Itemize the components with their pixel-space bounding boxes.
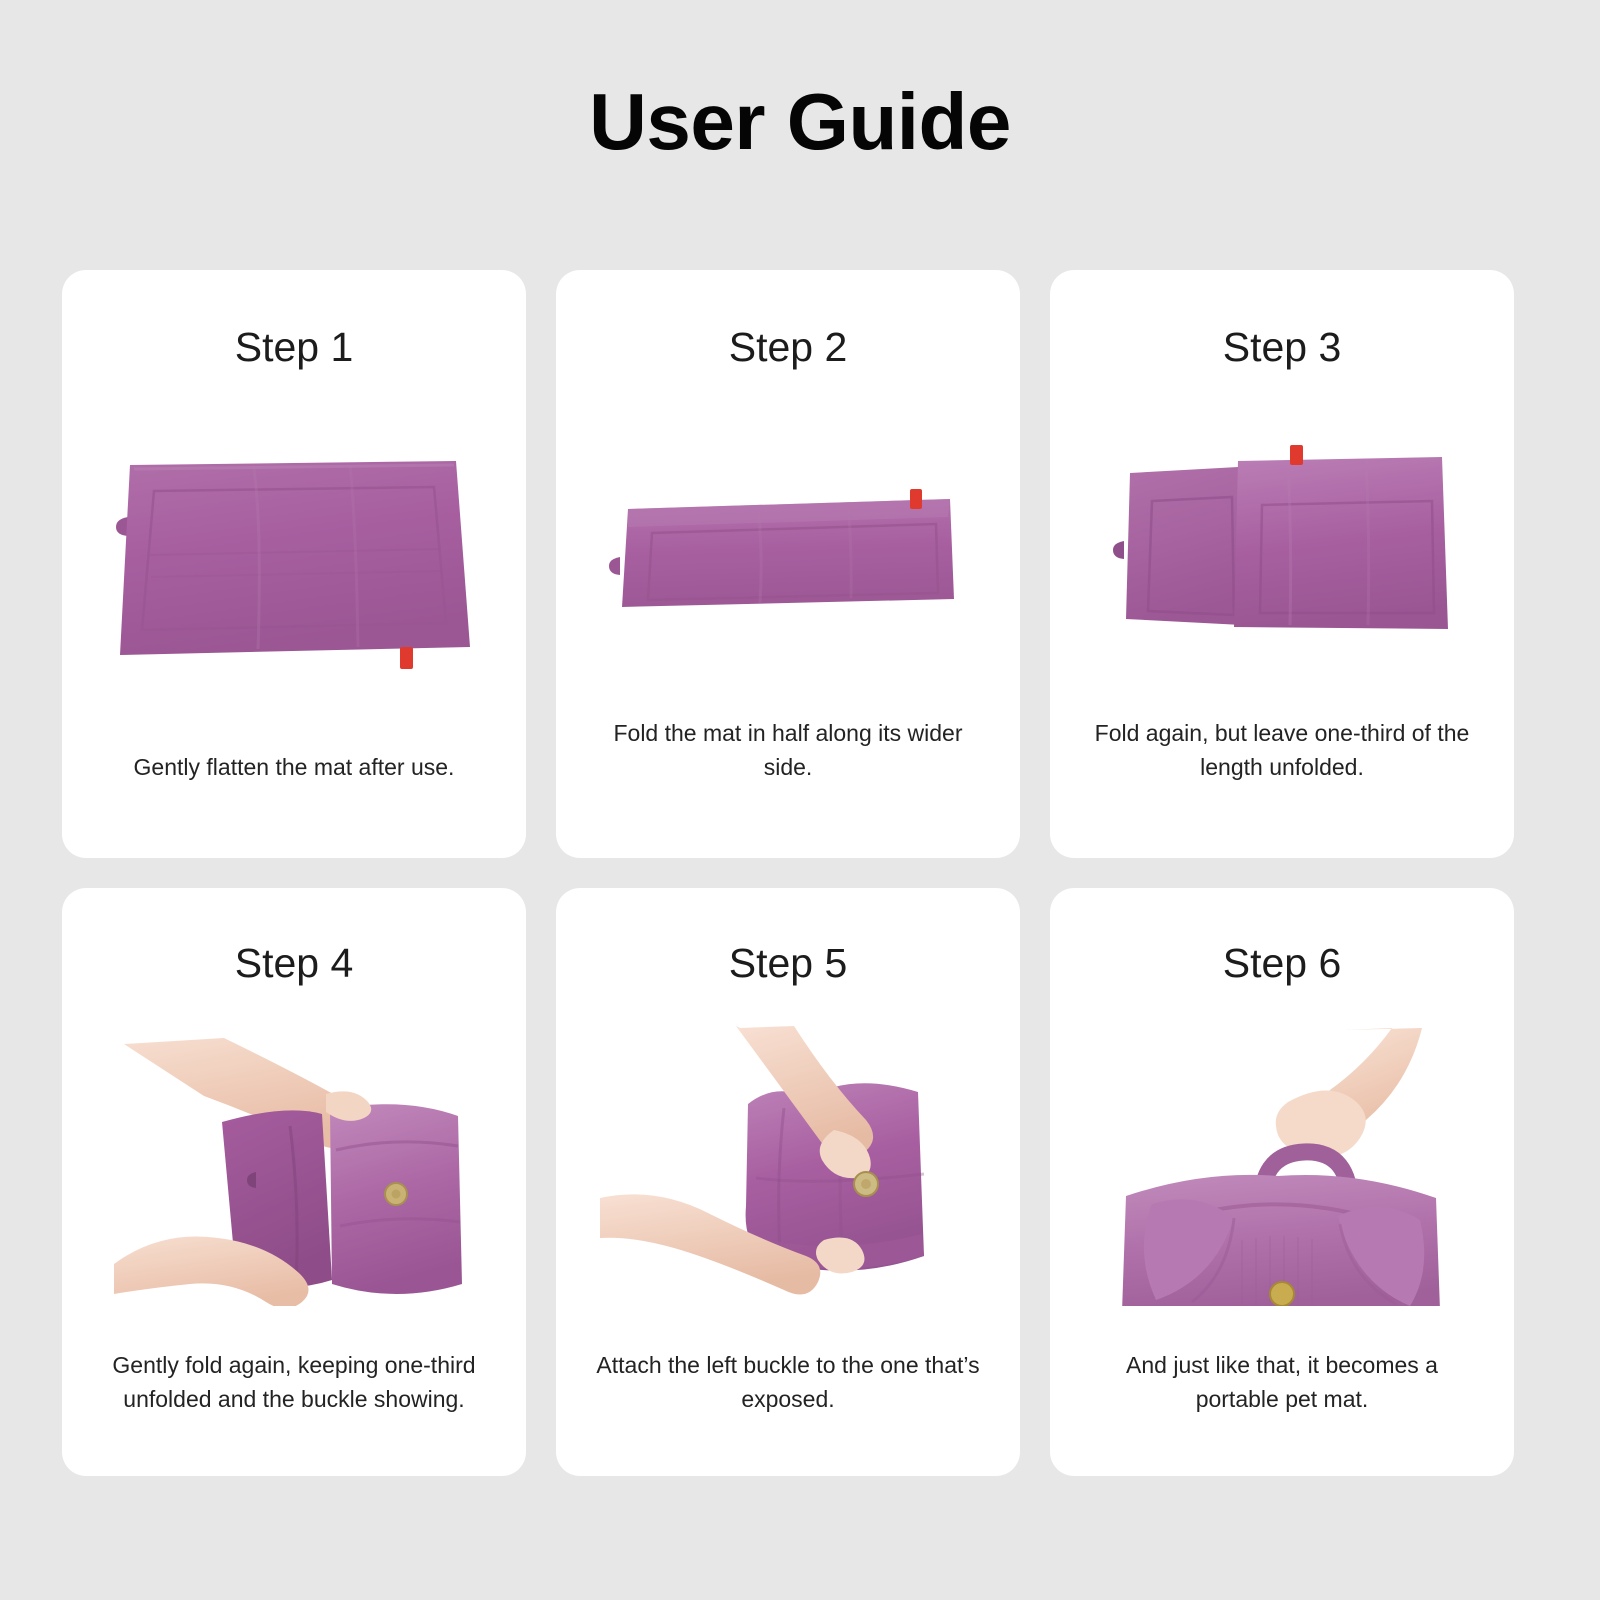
step-caption-1: Gently flatten the mat after use. <box>62 750 526 784</box>
step-caption-4: Gently fold again, keeping one-third unf… <box>62 1348 526 1416</box>
step-card-1: Step 1 <box>62 270 526 858</box>
step-card-6: Step 6 <box>1050 888 1514 1476</box>
flat-mat-icon <box>104 435 484 685</box>
step-illustration-3 <box>1050 369 1514 716</box>
step-title-4: Step 4 <box>235 888 354 985</box>
step-card-4: Step 4 <box>62 888 526 1476</box>
hands-folding-mat-icon <box>104 1026 484 1306</box>
step-title-6: Step 6 <box>1223 888 1342 985</box>
step-caption-5: Attach the left buckle to the one that’s… <box>556 1348 1020 1416</box>
step-card-3: Step 3 <box>1050 270 1514 858</box>
two-thirds-folded-mat-icon <box>1092 417 1472 667</box>
step-caption-2: Fold the mat in half along its wider sid… <box>556 716 1020 784</box>
step-illustration-5 <box>556 985 1020 1348</box>
step-illustration-1 <box>62 369 526 750</box>
hands-attaching-buckle-icon <box>598 1026 978 1306</box>
step-illustration-2 <box>556 369 1020 716</box>
page-title: User Guide <box>0 0 1600 162</box>
step-title-1: Step 1 <box>235 270 354 369</box>
step-caption-3: Fold again, but leave one-third of the l… <box>1050 716 1514 784</box>
step-title-2: Step 2 <box>729 270 848 369</box>
step-card-2: Step 2 <box>556 270 1020 858</box>
user-guide-page: User Guide Step 1 <box>0 0 1600 1600</box>
half-folded-mat-icon <box>598 417 978 667</box>
step-title-5: Step 5 <box>729 888 848 985</box>
step-card-5: Step 5 <box>556 888 1020 1476</box>
step-caption-6: And just like that, it becomes a portabl… <box>1050 1348 1514 1416</box>
step-title-3: Step 3 <box>1223 270 1342 369</box>
step-illustration-6 <box>1050 985 1514 1348</box>
hand-carrying-mat-icon <box>1092 1026 1472 1306</box>
step-illustration-4 <box>62 985 526 1348</box>
steps-grid: Step 1 <box>62 270 1540 1476</box>
